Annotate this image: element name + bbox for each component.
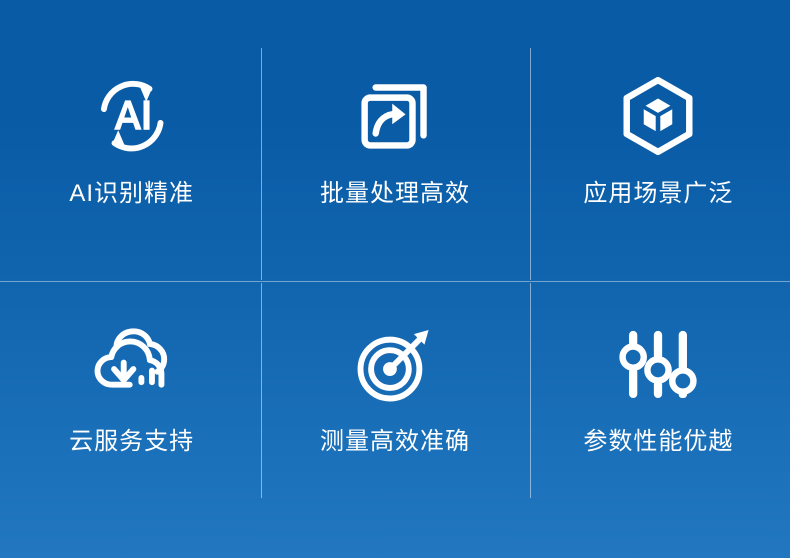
ai-circular-arrows-icon xyxy=(82,66,182,166)
sliders-icon xyxy=(608,314,708,414)
feature-label: 参数性能优越 xyxy=(583,428,733,457)
batch-stacked-squares-arrow-icon xyxy=(345,66,445,166)
feature-cell-parameter-performance[interactable]: 参数性能优越 xyxy=(527,252,790,504)
feature-cell-ai-recognition[interactable]: AI识别精准 xyxy=(0,0,263,252)
cloud-download-chart-icon xyxy=(82,314,182,414)
feature-grid: AI识别精准 批量处理高效 xyxy=(0,0,790,504)
target-arrow-icon xyxy=(345,314,445,414)
feature-cell-batch-processing[interactable]: 批量处理高效 xyxy=(263,0,526,252)
feature-cell-measurement-accuracy[interactable]: 测量高效准确 xyxy=(263,252,526,504)
feature-label: 批量处理高效 xyxy=(320,180,470,209)
feature-highlights-banner: AI识别精准 批量处理高效 xyxy=(0,0,790,558)
feature-cell-cloud-service[interactable]: 云服务支持 xyxy=(0,252,263,504)
feature-cell-application-scenarios[interactable]: 应用场景广泛 xyxy=(527,0,790,252)
feature-label: AI识别精准 xyxy=(69,180,194,209)
feature-label: 测量高效准确 xyxy=(320,428,470,457)
feature-label: 应用场景广泛 xyxy=(583,180,733,209)
hexagon-cube-icon xyxy=(608,66,708,166)
feature-label: 云服务支持 xyxy=(69,428,194,457)
